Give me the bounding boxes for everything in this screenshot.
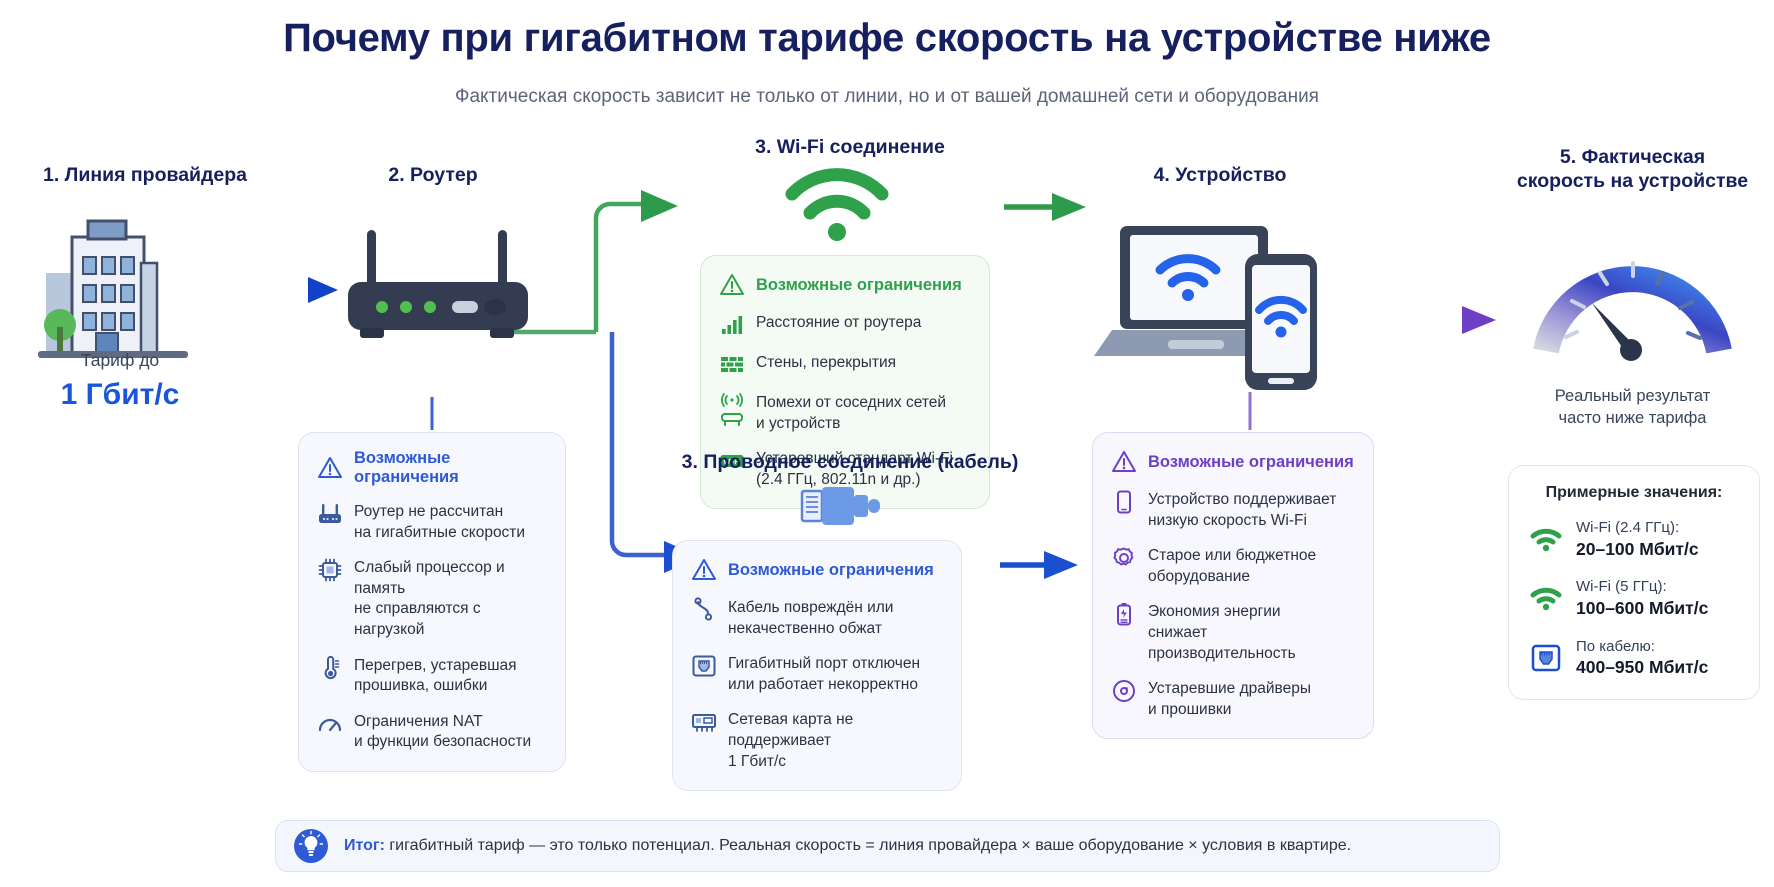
signal-bars-icon <box>719 312 745 338</box>
line2: прошивка, ошибки <box>354 677 487 694</box>
list-item: Расстояние от роутера <box>719 312 971 338</box>
line1: Роутер не рассчитан <box>354 503 503 520</box>
router-device-icon <box>340 230 535 340</box>
warning-triangle-icon <box>691 557 717 583</box>
lightbulb-icon <box>292 827 330 865</box>
approximate-values-box: Примерные значения: Wi-Fi (2.4 ГГц): 20–… <box>1508 465 1760 700</box>
summary-text: Итог: гигабитный тариф — это только поте… <box>344 837 1351 855</box>
arrow-cable-to-device <box>1000 551 1078 579</box>
step-caption-cable: 3. Проводное соединение (кабель) <box>660 450 1040 474</box>
arrow-wifi-to-device <box>1004 193 1086 221</box>
list-item-text: Старое или бюджетное оборудование <box>1148 545 1316 587</box>
speed-label: По кабелю: <box>1576 637 1708 657</box>
step-caption-router: 2. Роутер <box>318 163 548 187</box>
tariff-label: Тариф до <box>30 350 210 371</box>
list-item: Помехи от соседних сетей и устройств <box>719 392 971 434</box>
gauge-note-line1: Реальный результат <box>1555 387 1711 405</box>
card-heading-text: Возможные ограничения <box>728 561 934 580</box>
wifi-green-icon <box>1529 526 1563 552</box>
line1: Гигабитный порт отключен <box>728 655 920 672</box>
actual-line2: скорость на устройстве <box>1517 170 1748 192</box>
ethernet-port-icon <box>691 653 717 679</box>
list-item-text: Экономия энергии снижает производительно… <box>1148 601 1355 664</box>
summary-lead: Итог: <box>344 837 385 854</box>
list-item-text: Сетевая карта не поддерживает 1 Гбит/с <box>728 709 943 772</box>
line2: некачественно обжат <box>728 620 882 637</box>
list-item-text: Устройство поддерживает низкую скорость … <box>1148 489 1336 531</box>
list-item-text: Устаревшие драйверы и прошивки <box>1148 678 1311 720</box>
line1: Старое или бюджетное <box>1148 547 1316 564</box>
line2: оборудование <box>1148 568 1250 585</box>
list-item-text: Слабый процессор и память не справляются… <box>354 557 547 640</box>
list-item-text: Расстояние от роутера <box>756 312 921 334</box>
list-item: Стены, перекрытия <box>719 352 971 378</box>
list-item: Wi-Fi (5 ГГц): 100–600 Мбит/с <box>1529 577 1739 619</box>
line1: Устаревшие драйверы <box>1148 680 1311 697</box>
router-limitations-card: Возможные ограничения Роутер не рассчита… <box>298 432 566 772</box>
wifi-big-icon <box>782 172 892 242</box>
gear-icon <box>1111 545 1137 571</box>
list-item: Устройство поддерживает низкую скорость … <box>1111 489 1355 531</box>
card-heading-router: Возможные ограничения <box>317 449 547 487</box>
speed-value: 400–950 Мбит/с <box>1576 656 1708 679</box>
list-item: Wi-Fi (2.4 ГГц): 20–100 Мбит/с <box>1529 518 1739 560</box>
laptop-phone-icon <box>1108 218 1338 393</box>
list-item-text: Кабель повреждён или некачественно обжат <box>728 597 893 639</box>
list-item: Старое или бюджетное оборудование <box>1111 545 1355 587</box>
list-item-text: Гигабитный порт отключен или работает не… <box>728 653 920 695</box>
list-item: Гигабитный порт отключен или работает не… <box>691 653 943 695</box>
ethernet-plug-icon <box>800 485 892 527</box>
warning-triangle-icon <box>1111 449 1137 475</box>
speed-value: 20–100 Мбит/с <box>1576 538 1699 561</box>
list-item: Устаревшие драйверы и прошивки <box>1111 678 1355 720</box>
tariff-value: 1 Гбит/с <box>20 378 220 412</box>
cable-icon <box>691 597 717 623</box>
arrow-device-to-gauge <box>1395 306 1496 334</box>
ethernet-blue-icon <box>1529 643 1563 673</box>
list-item-text: Стены, перекрытия <box>756 352 896 374</box>
line1: Кабель повреждён или <box>728 599 893 616</box>
wifi-green-icon <box>1529 585 1563 611</box>
router-icon <box>317 501 343 527</box>
list-item: Слабый процессор и память не справляются… <box>317 557 547 640</box>
list-item: Ограничения NAT и функции безопасности <box>317 711 547 753</box>
line2: и прошивки <box>1148 701 1231 718</box>
warning-triangle-icon <box>317 455 343 481</box>
building-icon <box>38 215 188 360</box>
gauge-icon <box>317 711 343 737</box>
line2: снижает производительность <box>1148 624 1296 662</box>
card-heading-device: Возможные ограничения <box>1111 449 1355 475</box>
thermometer-icon <box>317 655 343 681</box>
line1: Перегрев, устаревшая <box>354 657 517 674</box>
list-item: Перегрев, устаревшая прошивка, ошибки <box>317 655 547 697</box>
interference-icon <box>719 392 745 432</box>
gauge-note: Реальный результат часто ниже тарифа <box>1500 385 1765 430</box>
line1: Слабый процессор и память <box>354 559 505 597</box>
infographic-canvas: Почему при гигабитном тарифе скорость на… <box>0 0 1774 887</box>
device-limitations-card: Возможные ограничения Устройство поддерж… <box>1092 432 1374 739</box>
card-heading-text: Возможные ограничения <box>756 276 962 295</box>
line1: Сетевая карта не поддерживает <box>728 711 853 749</box>
brick-wall-icon <box>719 352 745 378</box>
cpu-chip-icon <box>317 557 343 583</box>
step-caption-device: 4. Устройство <box>1100 163 1340 187</box>
line2: 1 Гбит/с <box>728 753 786 770</box>
list-item: Сетевая карта не поддерживает 1 Гбит/с <box>691 709 943 772</box>
summary-body: гигабитный тариф — это только потенциал.… <box>385 837 1351 854</box>
card-heading-text: Возможные ограничения <box>1148 453 1354 472</box>
speedometer-gauge-icon <box>1530 225 1735 365</box>
list-item: Экономия энергии снижает производительно… <box>1111 601 1355 664</box>
list-item: По кабелю: 400–950 Мбит/с <box>1529 637 1739 679</box>
line1: Устройство поддерживает <box>1148 491 1336 508</box>
disc-icon <box>1111 678 1137 704</box>
warning-triangle-icon <box>719 272 745 298</box>
list-item: Роутер не рассчитан на гигабитные скорос… <box>317 501 547 543</box>
list-item-text: Перегрев, устаревшая прошивка, ошибки <box>354 655 517 697</box>
summary-footer: Итог: гигабитный тариф — это только поте… <box>275 820 1500 872</box>
card-heading-wifi: Возможные ограничения <box>719 272 971 298</box>
speed-label: Wi-Fi (2.4 ГГц): <box>1576 518 1699 538</box>
card-heading-text: Возможные ограничения <box>354 449 547 487</box>
line1: Ограничения NAT <box>354 713 483 730</box>
line1: Помехи от соседних сетей <box>756 394 946 411</box>
list-item-text: Помехи от соседних сетей и устройств <box>756 392 946 434</box>
list-item: Кабель повреждён или некачественно обжат <box>691 597 943 639</box>
network-card-icon <box>691 709 717 735</box>
line2: и функции безопасности <box>354 733 531 750</box>
list-item-text: Роутер не рассчитан на гигабитные скорос… <box>354 501 525 543</box>
card-heading-cable: Возможные ограничения <box>691 557 943 583</box>
battery-icon <box>1111 601 1137 627</box>
phone-icon <box>1111 489 1137 515</box>
line2: низкую скорость Wi-Fi <box>1148 512 1307 529</box>
step-caption-wifi: 3. Wi-Fi соединение <box>700 135 1000 159</box>
speed-label: Wi-Fi (5 ГГц): <box>1576 577 1708 597</box>
line2: или работает некорректно <box>728 676 918 693</box>
list-item-text: Ограничения NAT и функции безопасности <box>354 711 531 753</box>
line2: на гигабитные скорости <box>354 524 525 541</box>
approximate-values-title: Примерные значения: <box>1529 484 1739 502</box>
line2: не справляются с нагрузкой <box>354 600 481 638</box>
line1: Экономия энергии <box>1148 603 1281 620</box>
speed-value: 100–600 Мбит/с <box>1576 597 1708 620</box>
step-caption-line: 1. Линия провайдера <box>10 163 280 187</box>
arrow-line-to-router <box>186 277 338 303</box>
gauge-note-line2: часто ниже тарифа <box>1559 409 1707 427</box>
cable-limitations-card: Возможные ограничения Кабель повреждён и… <box>672 540 962 791</box>
line2: и устройств <box>756 415 840 432</box>
actual-line1: 5. Фактическая <box>1560 146 1705 168</box>
step-caption-actual: 5. Фактическая скорость на устройстве <box>1500 145 1765 194</box>
